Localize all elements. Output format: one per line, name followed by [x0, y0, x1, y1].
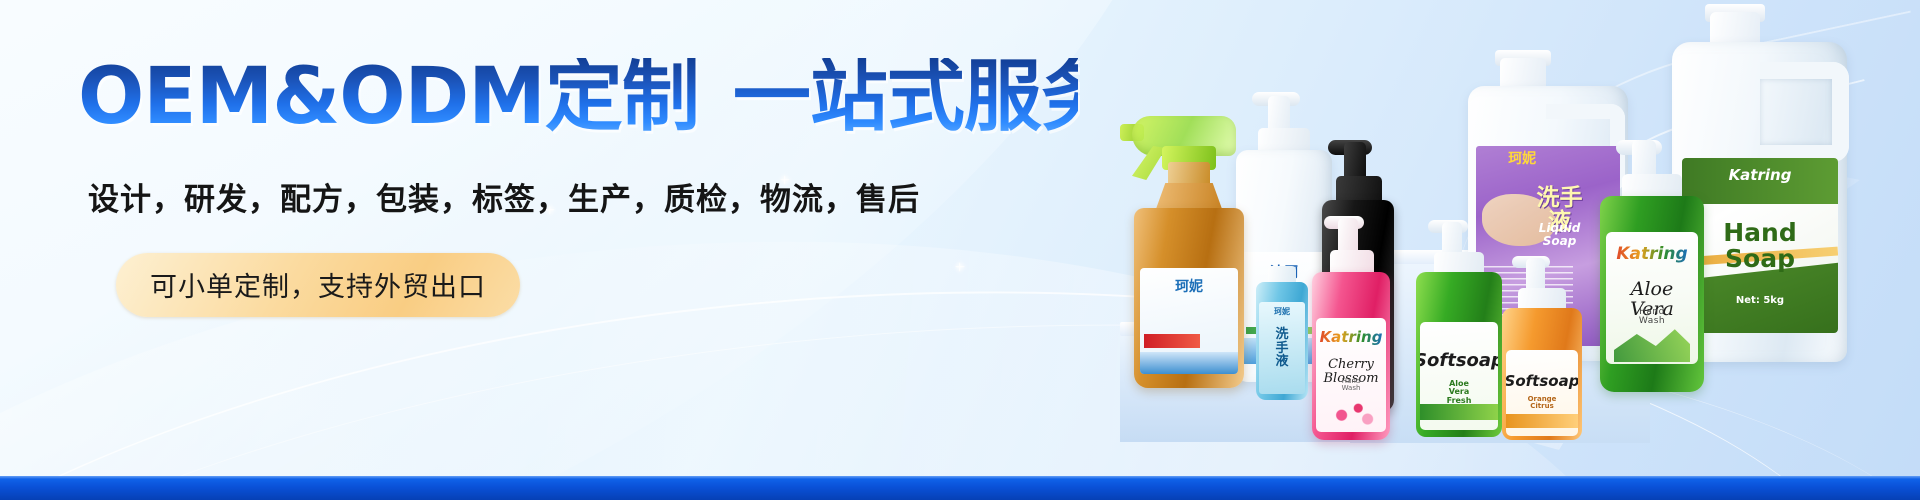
- product-subtitle: Aloe Vera Fresh: [1440, 380, 1479, 405]
- softsoap-green-label: Softsoap Aloe Vera Fresh: [1420, 322, 1498, 430]
- brand-name: Katring: [1320, 330, 1383, 346]
- headline-one-stop-service: 一站式服务: [733, 52, 1118, 142]
- cherry-blossom-label: Katring Cherry Blossom Hand Wash: [1316, 318, 1386, 432]
- cyan-bottle-label: 珂妮 洗手液: [1259, 302, 1305, 394]
- blossom-petal-graphic: [1326, 396, 1378, 428]
- brand-name: Katring: [1729, 168, 1792, 184]
- product-subtitle: Hand Wash: [1629, 308, 1675, 327]
- product-subtitle: Orange Citrus: [1524, 396, 1560, 411]
- label-blue-panel: [1140, 352, 1238, 374]
- softsoap-orange-label: Softsoap Orange Citrus: [1506, 350, 1578, 436]
- brand-name: Katring: [1616, 246, 1687, 264]
- promo-banner: OEM&ODM定制一站式服务 设计，研发，配方，包装，标签，生产，质检，物流，售…: [0, 0, 1920, 500]
- label-bottom-bar: [1420, 404, 1498, 420]
- brand-name: 珂妮: [1508, 152, 1536, 167]
- product-name: Hand Soap: [1721, 220, 1799, 273]
- brand-name: Softsoap: [1506, 374, 1578, 390]
- jug-label: Katring Hand Soap Net: 5kg: [1682, 158, 1838, 333]
- aloe-label: Katring Aloe Vera Hand Wash: [1606, 232, 1698, 364]
- banner-text-column: OEM&ODM定制一站式服务 设计，研发，配方，包装，标签，生产，质检，物流，售…: [78, 58, 1078, 317]
- product-name: 洗手液: [1271, 328, 1294, 369]
- product-subtitle: Hand Wash: [1334, 378, 1369, 393]
- label-red-stripe: [1144, 334, 1200, 348]
- label-bottom-bar: [1506, 414, 1578, 428]
- bottom-accent-bar: [0, 476, 1920, 500]
- product-photo-cluster: Katring Hand Soap Net: 5kg 珂妮 洗手液 Liquid…: [1060, 0, 1920, 470]
- bottom-bar-highlight: [0, 476, 1920, 479]
- headline-oem-odm: OEM&ODM: [78, 52, 545, 142]
- status-badge: 可小单定制，支持外贸出口: [116, 253, 520, 317]
- service-list-subtitle: 设计，研发，配方，包装，标签，生产，质检，物流，售后: [88, 174, 1078, 219]
- brand-name: Softsoap: [1420, 352, 1498, 371]
- page-title: OEM&ODM定制一站式服务: [78, 58, 1078, 136]
- spray-bottle-label: 珂妮: [1140, 268, 1238, 374]
- product-subtitle: Liquid Soap: [1529, 222, 1589, 247]
- headline-custom: 定制: [545, 52, 699, 142]
- net-weight: Net: 5kg: [1736, 296, 1784, 307]
- spray-neck: [1168, 162, 1210, 186]
- aloe-leaf-graphic: [1614, 322, 1690, 362]
- brand-name: 珂妮: [1175, 280, 1203, 295]
- jug-handle: [1760, 62, 1849, 162]
- brand-name: 珂妮: [1274, 308, 1290, 316]
